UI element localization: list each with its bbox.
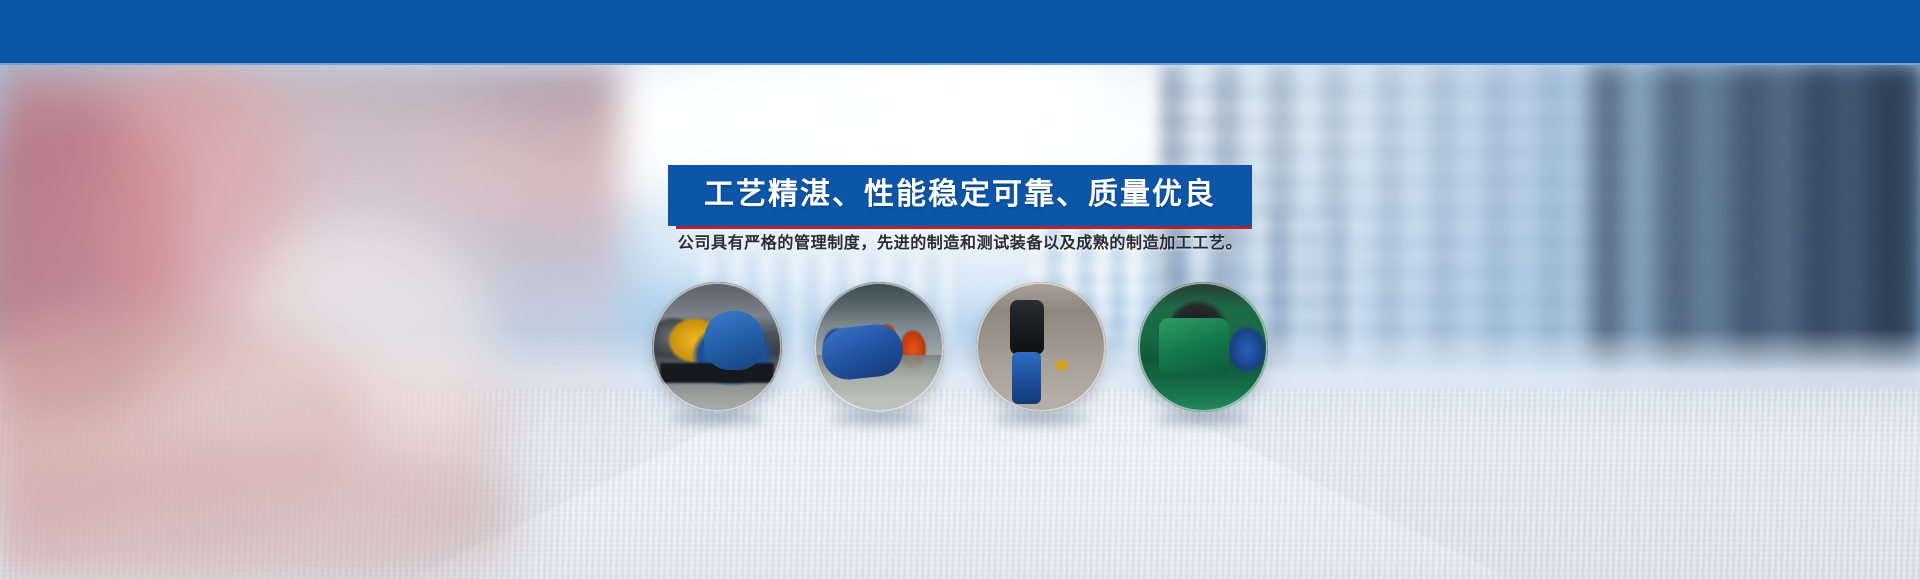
subtitle-text: 公司具有严格的管理制度，先进的制造和测试装备以及成熟的制造加工工艺。 — [678, 229, 1242, 253]
blue-slurry-pump-row-image — [814, 282, 944, 412]
page-stage: 工艺精湛、性能稳定可靠、质量优良 公司具有严格的管理制度，先进的制造和测试装备以… — [0, 0, 1920, 579]
background-blur-streak — [0, 445, 520, 579]
product-photo-1[interactable] — [652, 282, 782, 412]
gallery-item[interactable] — [1138, 282, 1268, 412]
photo-shadow — [1155, 412, 1251, 426]
vertical-inline-pipeline-pumps-image — [976, 282, 1106, 412]
product-image-gallery — [652, 282, 1268, 412]
headline-banner-box: 工艺精湛、性能稳定可靠、质量优良 — [668, 165, 1252, 226]
headline-banner: 工艺精湛、性能稳定可靠、质量优良 — [668, 165, 1252, 229]
gallery-item[interactable] — [976, 282, 1106, 412]
gallery-item[interactable] — [652, 282, 782, 412]
gallery-item[interactable] — [814, 282, 944, 412]
blue-split-case-pump-image — [652, 282, 782, 412]
green-diesel-engine-pump-set-image — [1138, 282, 1268, 412]
product-photo-4[interactable] — [1138, 282, 1268, 412]
top-navigation-bar — [0, 0, 1920, 65]
product-photo-2[interactable] — [814, 282, 944, 412]
headline-text: 工艺精湛、性能稳定可靠、质量优良 — [704, 178, 1216, 211]
product-photo-3[interactable] — [976, 282, 1106, 412]
photo-shadow — [993, 412, 1089, 426]
top-bar-edge — [0, 63, 1920, 65]
photo-shadow — [831, 412, 927, 426]
photo-shadow — [669, 412, 765, 426]
